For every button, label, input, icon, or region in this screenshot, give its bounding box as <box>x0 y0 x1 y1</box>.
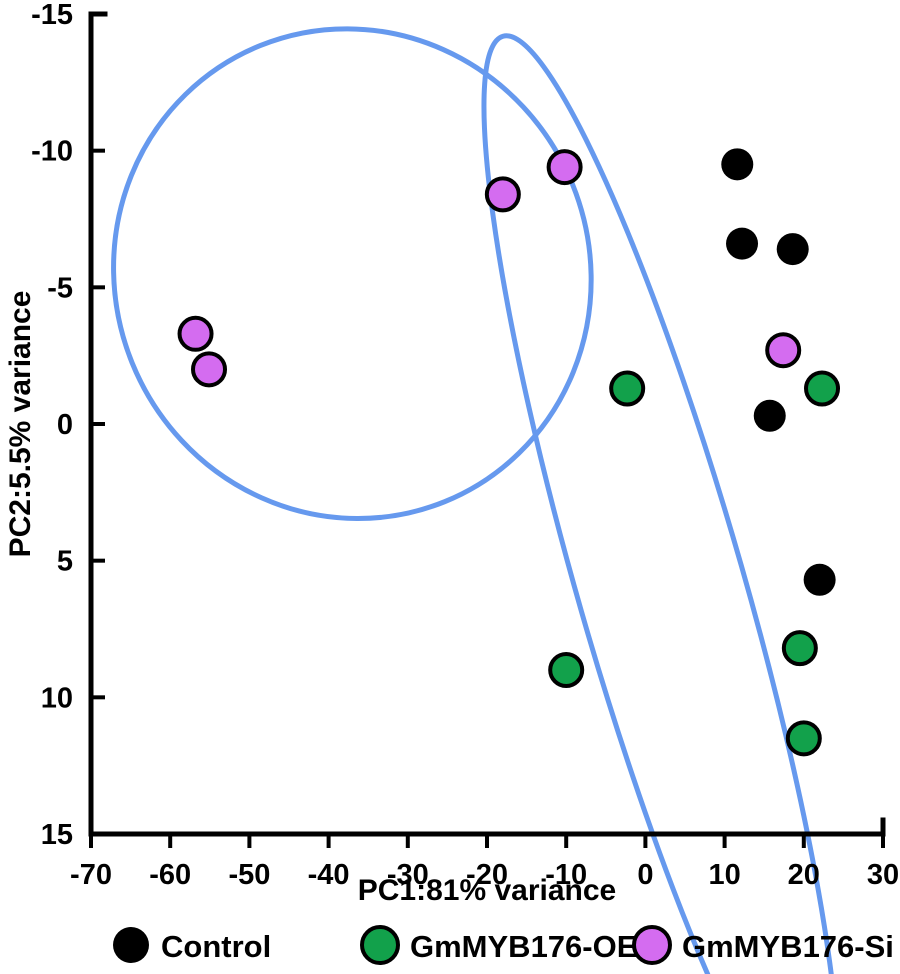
legend: ControlGmMYB176-OEGmMYB176-Si <box>113 927 894 964</box>
data-point <box>767 334 799 366</box>
cluster-ellipse-group <box>40 0 899 974</box>
y-axis-title: PC2:5.5% variance <box>4 291 37 558</box>
data-point <box>193 353 225 385</box>
y-tick-label: 0 <box>57 409 73 441</box>
data-point <box>726 228 758 260</box>
data-point <box>784 632 816 664</box>
legend-label-2: GmMYB176-Si <box>682 929 894 964</box>
data-point <box>611 372 643 404</box>
pca-scatter-figure: -70-60-50-40-30-20-100102030 -15-10-5051… <box>0 0 900 974</box>
plot-canvas: -70-60-50-40-30-20-100102030 -15-10-5051… <box>0 0 900 974</box>
x-axis-title: PC1:81% variance <box>358 874 617 907</box>
data-point <box>804 564 836 596</box>
x-tick-label: -60 <box>149 859 191 891</box>
y-tick-label: -5 <box>47 272 73 304</box>
y-tick-label: 10 <box>41 682 73 714</box>
legend-label-1: GmMYB176-OE <box>410 929 637 964</box>
legend-swatch-0 <box>113 927 149 963</box>
x-tick-label: -40 <box>308 859 350 891</box>
cluster-ellipse-si <box>40 0 665 591</box>
data-point-group <box>180 148 838 754</box>
x-tick-label: -50 <box>228 859 270 891</box>
data-point <box>549 151 581 183</box>
y-tick-label: -15 <box>31 0 73 31</box>
x-tick-label: 10 <box>708 859 740 891</box>
data-point <box>806 372 838 404</box>
x-tick-label: 30 <box>867 859 899 891</box>
data-point <box>777 233 809 265</box>
legend-swatch-1 <box>362 927 398 963</box>
data-point <box>550 654 582 686</box>
y-tick-label-group: -15-10-5051015 <box>31 0 73 851</box>
x-tick-label: 0 <box>637 859 653 891</box>
data-point <box>721 148 753 180</box>
data-point <box>754 400 786 432</box>
data-point <box>487 178 519 210</box>
cluster-ellipse-oe <box>423 13 899 974</box>
x-tick-label: 20 <box>788 859 820 891</box>
legend-label-0: Control <box>161 929 271 964</box>
x-tick-label: -70 <box>70 859 112 891</box>
y-tick-label: -10 <box>31 136 73 168</box>
y-tick-label: 15 <box>41 819 73 851</box>
data-point <box>788 722 820 754</box>
data-point <box>180 318 212 350</box>
legend-swatch-2 <box>634 927 670 963</box>
y-tick-label: 5 <box>57 546 73 578</box>
